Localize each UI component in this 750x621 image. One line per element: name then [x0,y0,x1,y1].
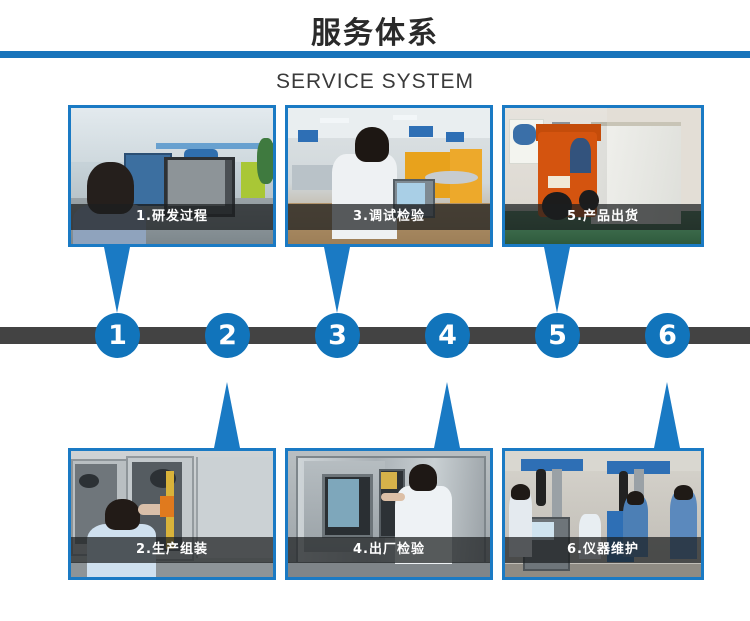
page-title: 服务体系 [0,8,750,52]
connector-arrow-up-4 [434,382,460,448]
process-card-1[interactable]: 1.研发过程 [68,105,276,247]
process-card-3[interactable]: 3.调试检验 [285,105,493,247]
page-subtitle: SERVICE SYSTEM [0,70,750,94]
timeline-node-label: 1 [108,320,127,351]
timeline-node-4[interactable]: 4 [425,313,470,358]
connector-arrow-down-5 [544,247,570,313]
connector-arrow-up-2 [214,382,240,448]
process-card-2[interactable]: 2.生产组装 [68,448,276,580]
timeline-node-1[interactable]: 1 [95,313,140,358]
process-card-4[interactable]: 4.出厂检验 [285,448,493,580]
connector-arrow-up-6 [654,382,680,448]
timeline-node-label: 2 [218,320,237,351]
card-caption: 6.仪器维护 [505,537,701,563]
process-card-5[interactable]: 5.产品出货 [502,105,704,247]
card-caption: 3.调试检验 [288,204,490,230]
timeline-node-3[interactable]: 3 [315,313,360,358]
header-divider-rule [0,51,750,58]
timeline-node-6[interactable]: 6 [645,313,690,358]
timeline-node-label: 5 [548,320,567,351]
card-caption: 4.出厂检验 [288,537,490,563]
timeline-node-label: 6 [658,320,677,351]
timeline-node-5[interactable]: 5 [535,313,580,358]
process-card-6[interactable]: 6.仪器维护 [502,448,704,580]
card-caption: 1.研发过程 [71,204,273,230]
timeline-node-2[interactable]: 2 [205,313,250,358]
service-system-infographic: 服务体系 SERVICE SYSTEM 1.研发过程 3.调试检验 [0,0,750,621]
connector-arrow-down-1 [104,247,130,313]
card-caption: 5.产品出货 [505,204,701,230]
timeline-node-label: 4 [438,320,457,351]
connector-arrow-down-3 [324,247,350,313]
card-caption: 2.生产组装 [71,537,273,563]
timeline-node-label: 3 [328,320,347,351]
